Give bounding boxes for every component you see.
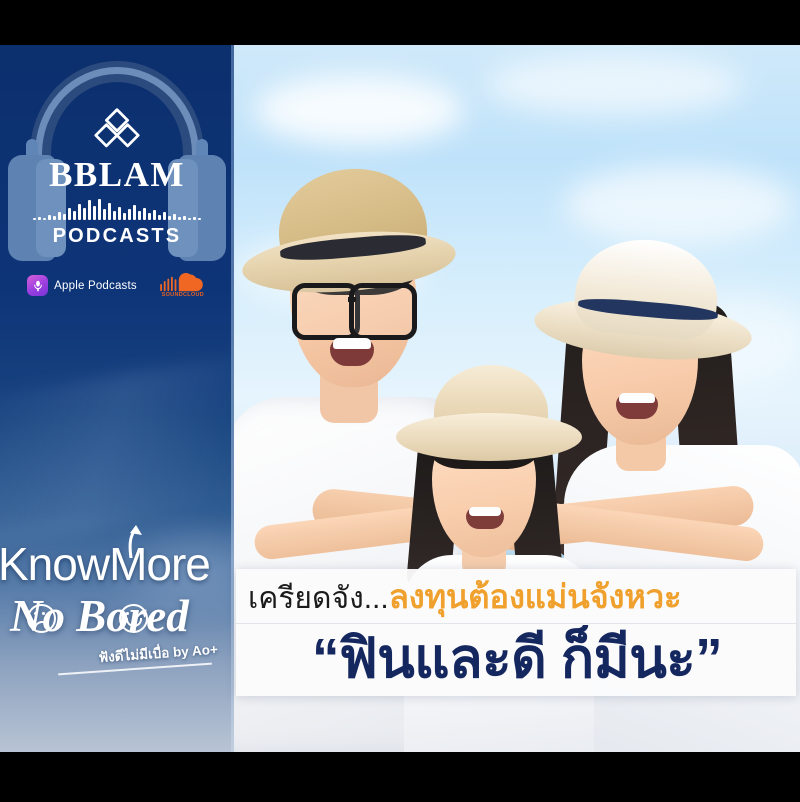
platform-badges: Apple Podcasts SOUNDCLOUD (0, 273, 234, 298)
bblam-brand-block: BBLAM PODCASTS (0, 107, 234, 248)
caption-line-2: “ฟินและดี ก็มีนะ” (236, 624, 796, 697)
apple-podcasts-badge[interactable]: Apple Podcasts (27, 275, 137, 296)
letterbox-bottom (0, 752, 800, 802)
cloud (564, 165, 794, 245)
up-arrow-icon (120, 524, 146, 558)
soundcloud-label: SOUNDCLOUD (162, 292, 204, 298)
cloud (484, 55, 744, 115)
branding-sidebar: BBLAM PODCASTS (0, 45, 234, 752)
cover-art-content: BBLAM PODCASTS (0, 45, 800, 752)
cloud (254, 75, 464, 145)
show-title-line2: No Bored (0, 589, 234, 643)
microphone-glyph (31, 279, 45, 293)
caption-line-1-orange: ลงทุนต้องแม่นจังหวะ (389, 576, 682, 617)
show-title-lockup: KnowMore No Bored ฟังดีไม่มีเบื่อ by (0, 541, 234, 670)
caption-box: เครียดจัง... ลงทุนต้องแม่นจังหวะ “ฟินและ… (236, 569, 796, 696)
brand-name: BBLAM (0, 157, 234, 192)
show-title-line1-text: KnowMore (0, 538, 210, 590)
video-frame: BBLAM PODCASTS (0, 0, 800, 802)
letterbox-top (0, 0, 800, 45)
audio-waveform-icon (0, 198, 234, 220)
show-title-line1: KnowMore (0, 541, 234, 587)
sad-face-icon (27, 604, 56, 633)
bblam-diamond-logo-icon (90, 107, 144, 153)
caption-line-1: เครียดจัง... ลงทุนต้องแม่นจังหวะ (236, 569, 796, 624)
caption-line-1-dark: เครียดจัง... (248, 580, 389, 618)
podcasts-label: PODCASTS (0, 225, 234, 248)
soundcloud-badge[interactable]: SOUNDCLOUD (159, 273, 207, 298)
apple-podcasts-label: Apple Podcasts (54, 280, 137, 292)
happy-face-icon (119, 604, 148, 633)
apple-podcasts-icon (27, 275, 48, 296)
